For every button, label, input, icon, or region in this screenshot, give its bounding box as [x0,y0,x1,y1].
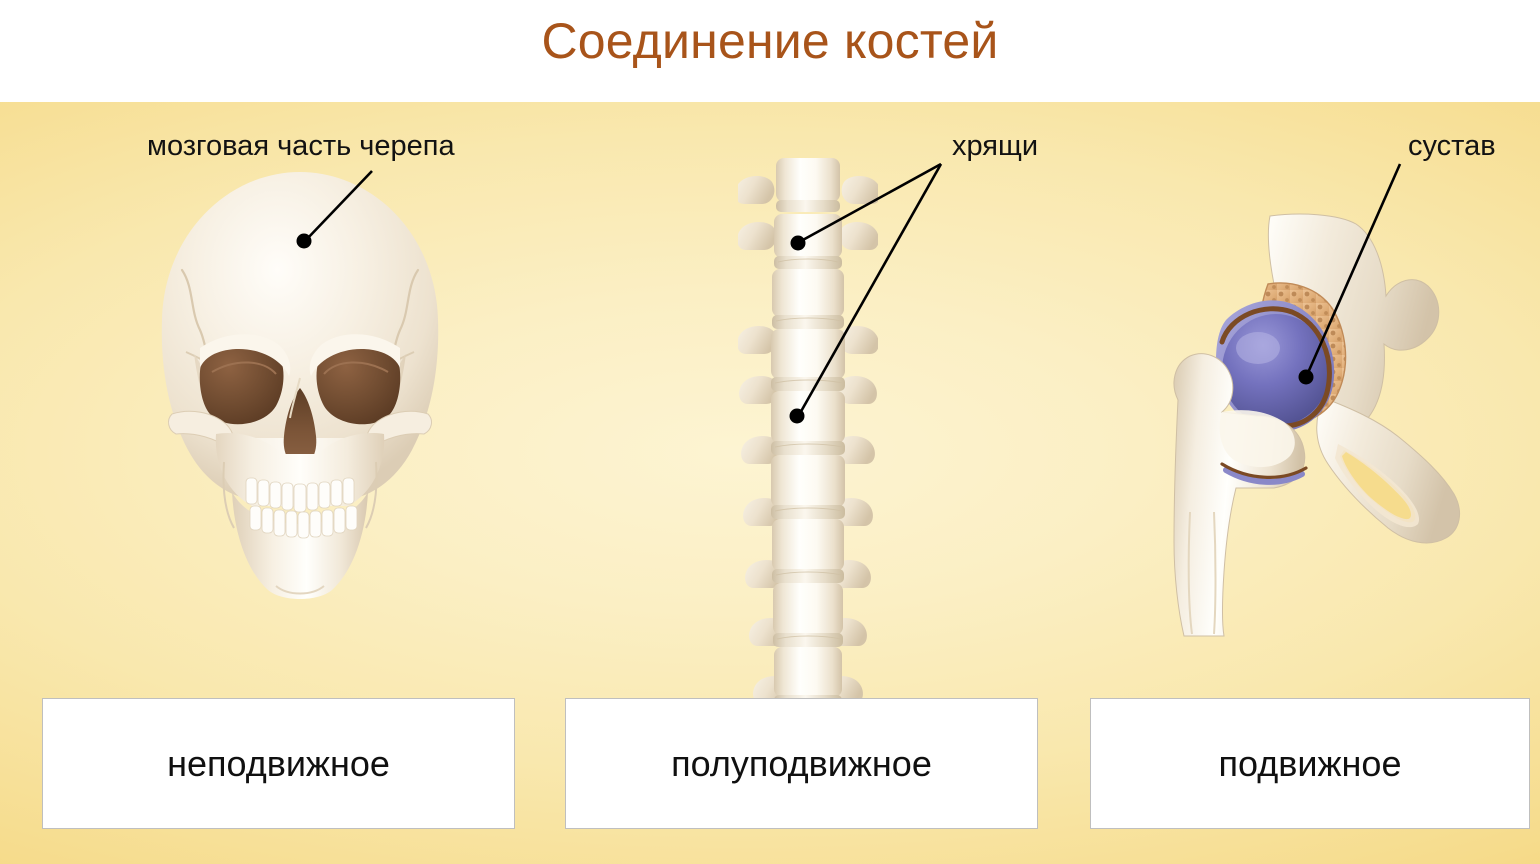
caption-label-immobile: неподвижное [167,746,390,782]
vertebral-column-illustration [738,152,878,732]
slide-root: Соединение костей [0,0,1540,864]
caption-box-mobile[interactable]: подвижное [1090,698,1530,829]
caption-label-semi-mobile: полуподвижное [671,746,932,782]
callout-label-joint: сустав [1408,132,1496,161]
title-band: Соединение костей [0,0,1540,102]
caption-box-semi-mobile[interactable]: полуподвижное [565,698,1038,829]
callout-label-cartilage: хрящи [952,132,1038,161]
caption-label-mobile: подвижное [1219,746,1402,782]
hip-joint-illustration [1160,212,1470,642]
callout-label-skull: мозговая часть черепа [147,132,455,161]
page-title: Соединение костей [0,14,1540,69]
skull-illustration [150,162,450,642]
illustration-panel: мозговая часть черепа хрящи сустав непод… [0,102,1540,864]
caption-box-immobile[interactable]: неподвижное [42,698,515,829]
